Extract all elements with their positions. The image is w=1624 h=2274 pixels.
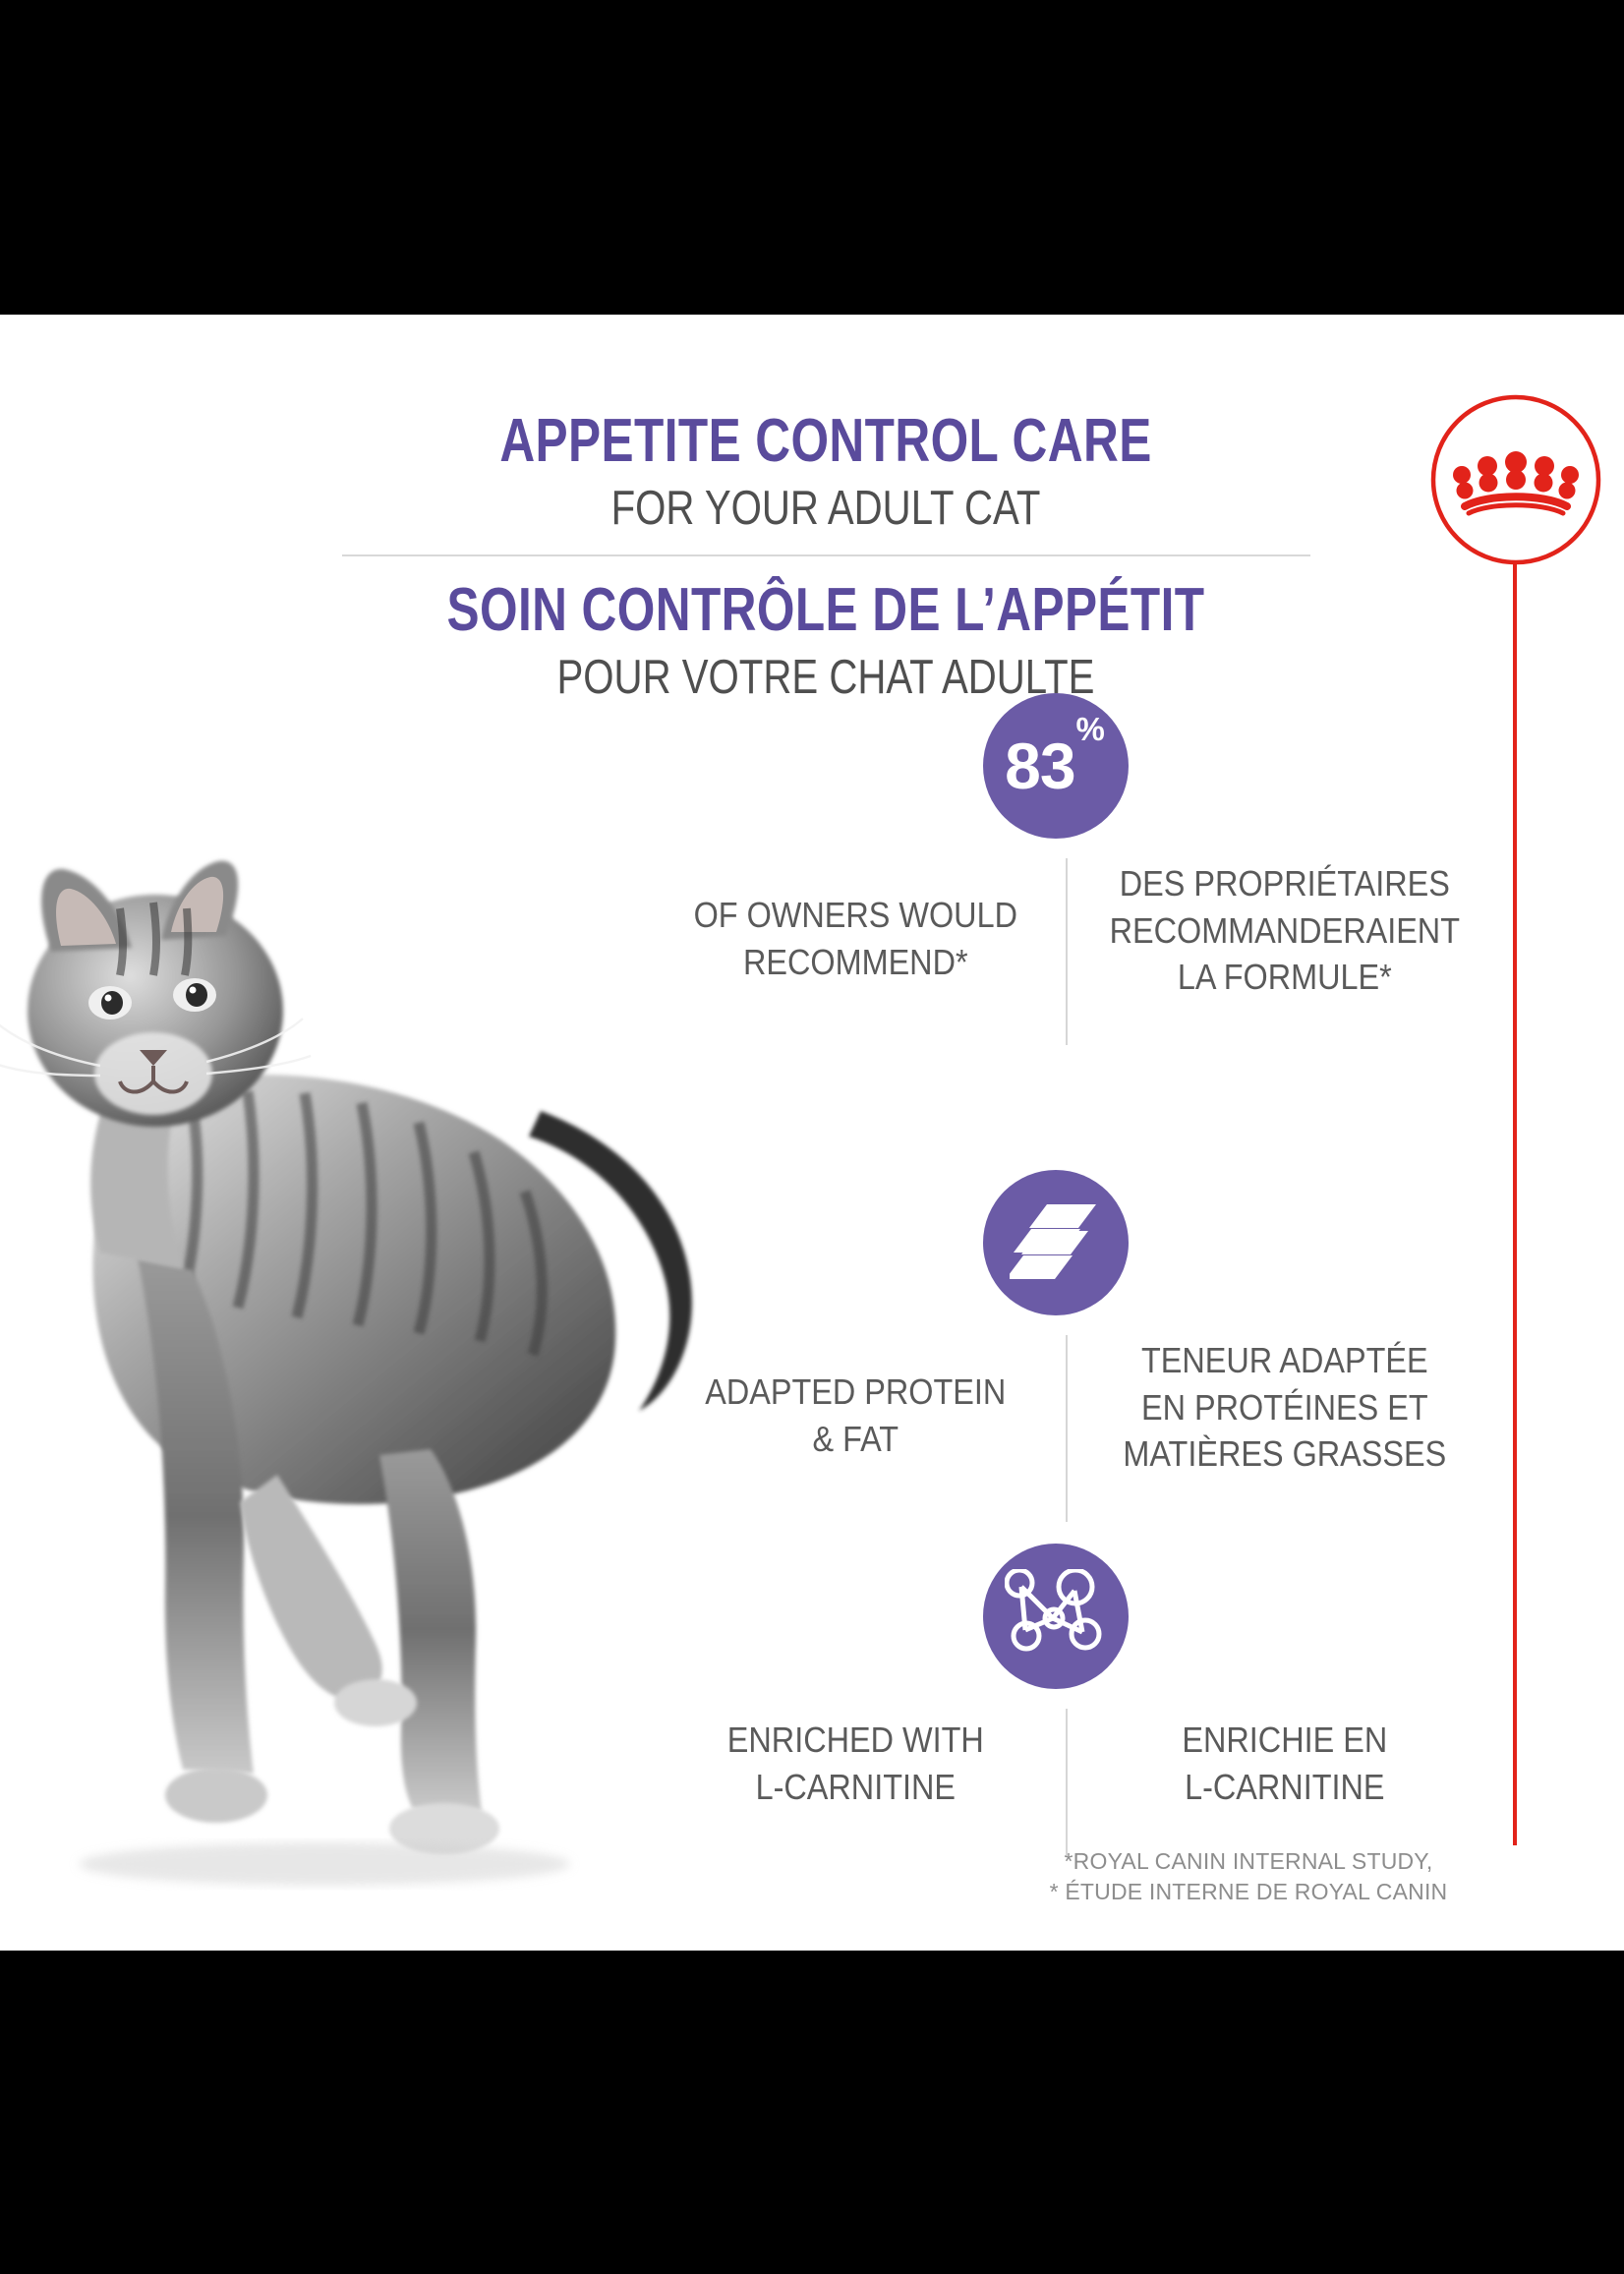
- benefit-line: RECOMMANDERAIENT: [1083, 907, 1486, 955]
- packaging-panel: APPETITE CONTROL CARE FOR YOUR ADULT CAT…: [0, 0, 1624, 2274]
- l-carnitine-molecule-icon: [983, 1544, 1129, 1689]
- benefit-text-fr-2: TENEUR ADAPTÉE EN PROTÉINES ET MATIÈRES …: [1062, 1337, 1486, 1478]
- footnote-line-fr: * ÉTUDE INTERNE DE ROYAL CANIN: [1017, 1877, 1479, 1907]
- benefit-line: L-CARNITINE: [1083, 1764, 1486, 1811]
- badge-percentage-value: 83%: [1005, 733, 1103, 798]
- benefit-line: DES PROPRIÉTAIRES: [1083, 860, 1486, 907]
- benefit-text-en-2: ADAPTED PROTEIN & FAT: [655, 1337, 1062, 1478]
- footnote: *ROYAL CANIN INTERNAL STUDY, * ÉTUDE INT…: [1017, 1846, 1479, 1907]
- percentage-badge: 83%: [983, 693, 1129, 839]
- benefit-text-en-1: OF OWNERS WOULD RECOMMEND*: [655, 860, 1062, 1001]
- benefit-text-en-3: ENRICHED WITH L-CARNITINE: [655, 1711, 1062, 1810]
- benefit-line: TENEUR ADAPTÉE: [1083, 1337, 1486, 1384]
- benefit-line: ENRICHED WITH: [655, 1717, 1057, 1764]
- benefit-line: ENRICHIE EN: [1083, 1717, 1486, 1764]
- zigzag-slabs-icon: [1010, 1200, 1102, 1285]
- benefit-line: OF OWNERS WOULD: [655, 892, 1057, 939]
- royal-canin-crown-logo: [1427, 391, 1604, 568]
- title-divider: [342, 554, 1310, 556]
- footnote-line-en: *ROYAL CANIN INTERNAL STUDY,: [1017, 1846, 1479, 1877]
- benefit-line: & FAT: [655, 1416, 1057, 1463]
- benefit-text-fr-1: DES PROPRIÉTAIRES RECOMMANDERAIENT LA FO…: [1062, 860, 1486, 1001]
- benefit-line: RECOMMEND*: [655, 939, 1057, 986]
- page-title-en: APPETITE CONTROL CARE: [425, 411, 1227, 472]
- logo-stem-line: [1513, 562, 1517, 1845]
- benefit-line: L-CARNITINE: [655, 1764, 1057, 1811]
- header: APPETITE CONTROL CARE FOR YOUR ADULT CAT…: [324, 411, 1327, 702]
- page-subtitle-en: FOR YOUR ADULT CAT: [415, 485, 1237, 533]
- crown-in-circle-icon: [1427, 391, 1604, 568]
- content-card: APPETITE CONTROL CARE FOR YOUR ADULT CAT…: [0, 315, 1624, 1951]
- protein-fat-icon: [983, 1170, 1129, 1315]
- molecule-icon: [1005, 1569, 1107, 1663]
- page-title-fr: SOIN CONTRÔLE DE L’APPÉTIT: [425, 580, 1227, 641]
- benefit-line: ADAPTED PROTEIN: [655, 1369, 1057, 1416]
- benefit-line: MATIÈRES GRASSES: [1083, 1430, 1486, 1478]
- benefit-text-fr-3: ENRICHIE EN L-CARNITINE: [1062, 1711, 1486, 1810]
- benefit-line: EN PROTÉINES ET: [1083, 1384, 1486, 1431]
- page-subtitle-fr: POUR VOTRE CHAT ADULTE: [415, 654, 1237, 702]
- benefit-line: LA FORMULE*: [1083, 954, 1486, 1001]
